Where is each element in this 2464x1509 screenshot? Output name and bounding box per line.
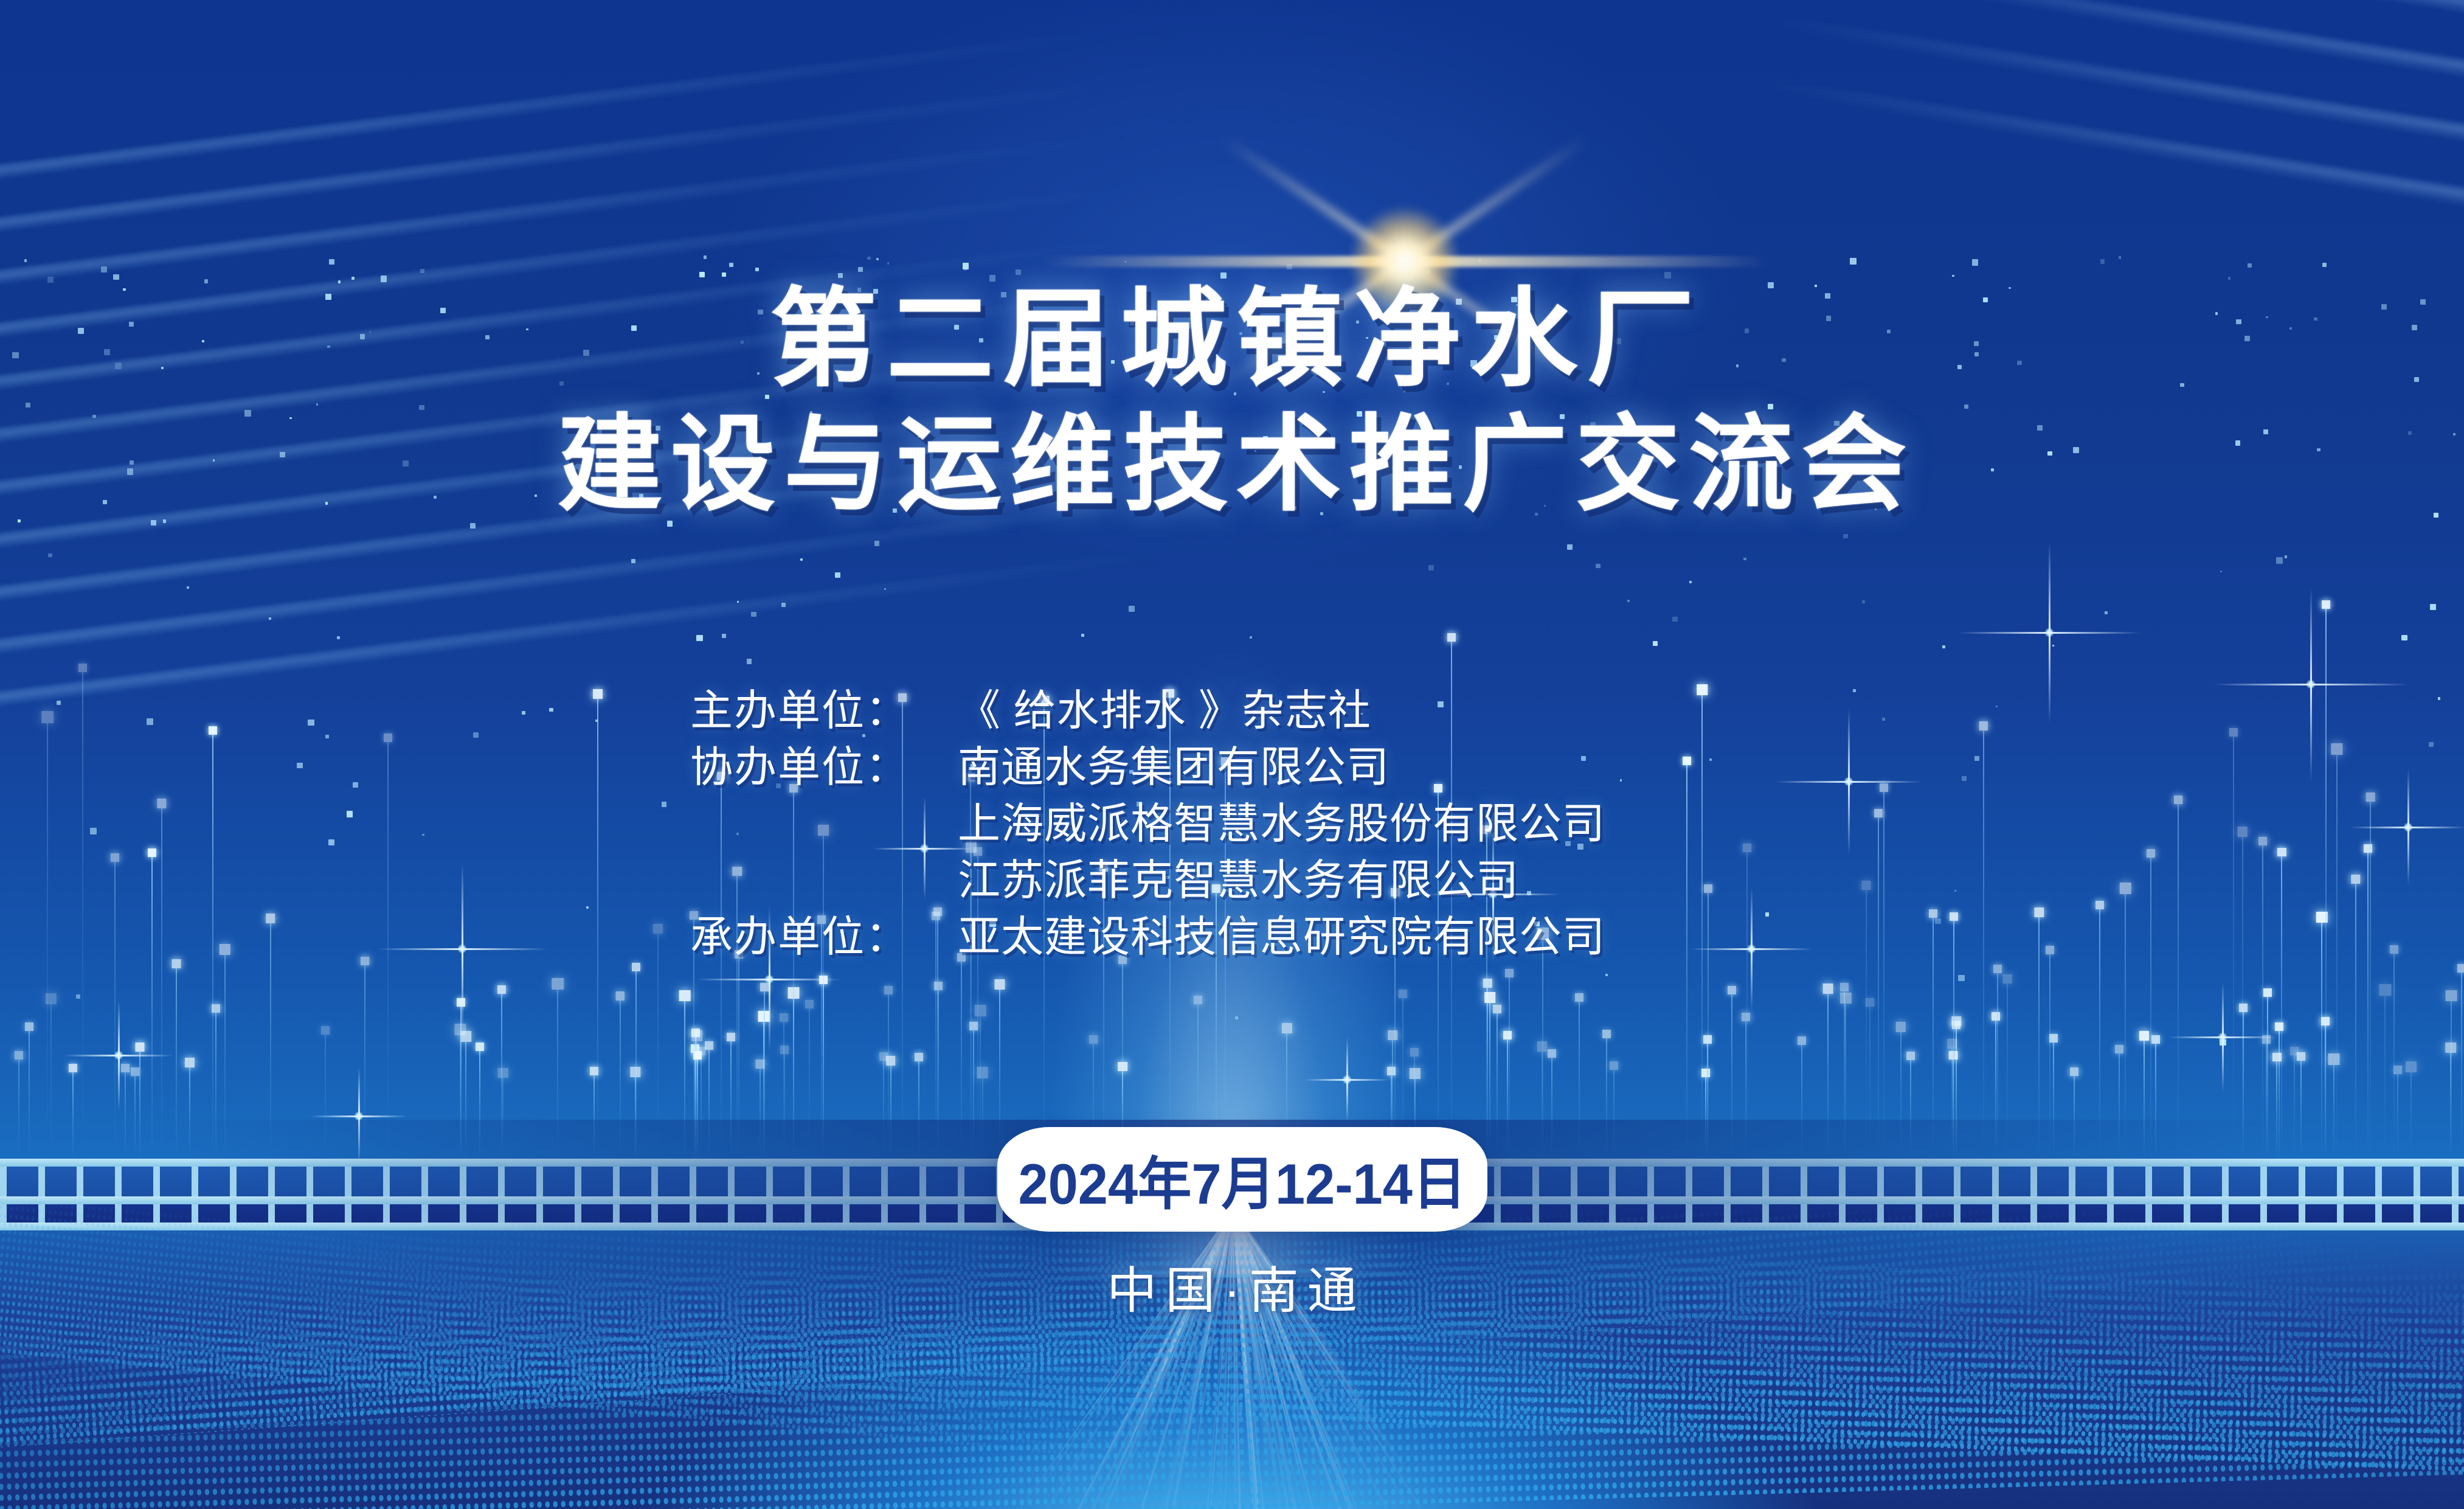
organizer-row: 江苏派菲克智慧水务有限公司 [690,852,1605,909]
title-line-2: 建设与运维技术推广交流会 [0,403,2464,527]
organizer-value: 亚太建设科技信息研究院有限公司 [958,909,1605,965]
organizer-row: 承办单位： 亚太建设科技信息研究院有限公司 [690,909,1605,965]
organizer-value: 《 给水排水 》杂志社 [958,682,1371,739]
organizer-value: 上海威派格智慧水务股份有限公司 [958,796,1605,852]
organizer-label: 协办单位： [690,739,958,796]
date-badge-label: 2024年7月12-14日 [1019,1138,1467,1221]
poster-title: 第二届城镇净水厂 建设与运维技术推广交流会 [0,277,2464,527]
organizer-row: 协办单位： 南通水务集团有限公司 [690,739,1605,796]
organizer-label: 承办单位： [690,909,958,965]
conference-poster: 第二届城镇净水厂 建设与运维技术推广交流会 主办单位： 《 给水排水 》杂志社 … [0,0,2464,1509]
poster-content: 第二届城镇净水厂 建设与运维技术推广交流会 主办单位： 《 给水排水 》杂志社 … [0,0,2464,1509]
organizer-row: 主办单位： 《 给水排水 》杂志社 [690,682,1605,739]
date-badge: 2024年7月12-14日 [997,1127,1487,1232]
title-line-1: 第二届城镇净水厂 [0,277,2464,403]
organizer-list: 主办单位： 《 给水排水 》杂志社 协办单位： 南通水务集团有限公司 上海威派格… [690,682,1605,965]
location-label: 中国·南通 [0,1250,2464,1322]
organizer-row: 上海威派格智慧水务股份有限公司 [690,796,1605,852]
organizer-value: 南通水务集团有限公司 [958,739,1389,796]
organizer-value: 江苏派菲克智慧水务有限公司 [958,852,1519,909]
organizer-label: 主办单位： [690,682,958,739]
